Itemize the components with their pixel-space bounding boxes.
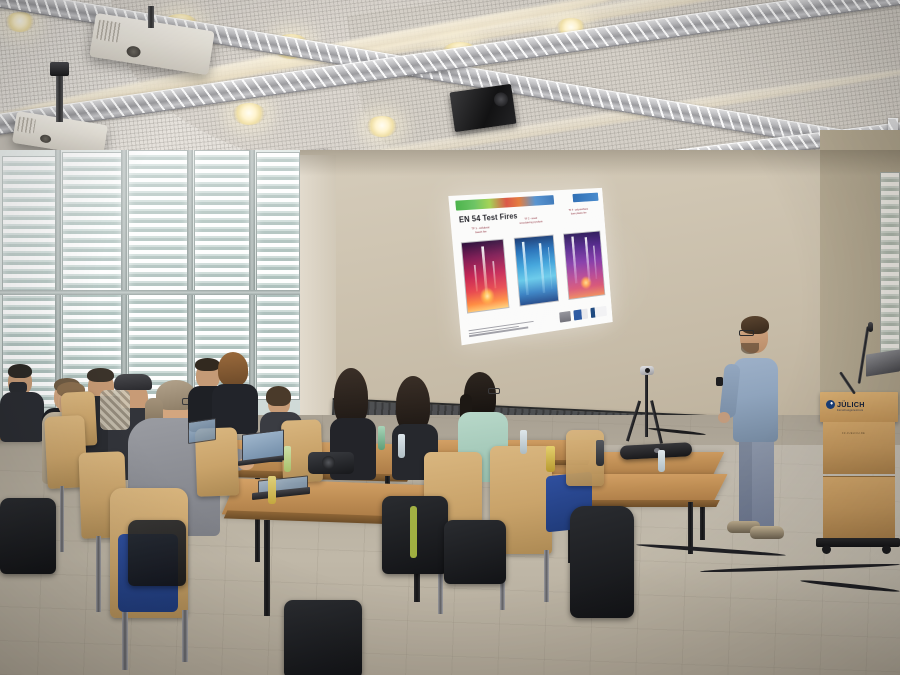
bottle-2[interactable]	[268, 476, 276, 504]
lectern-brand-subtitle: Forschungszentrum	[837, 409, 863, 412]
screen-light-spill	[440, 188, 660, 358]
downlight-7	[5, 12, 35, 32]
juelich-logo-lectern: JÜLICH	[826, 400, 865, 409]
wall-shadow-top	[230, 150, 900, 176]
lectern[interactable]: JÜLICH Forschungszentrum FZ-JUELICH.DE	[820, 392, 898, 562]
bottle-5[interactable]	[520, 430, 527, 454]
backpack-6[interactable]	[128, 520, 186, 586]
lectern-url-text: FZ-JUELICH.DE	[842, 432, 865, 435]
presentation-clicker[interactable]	[716, 377, 723, 386]
lectern-caster-right	[882, 545, 891, 554]
camera-lens-icon	[322, 456, 335, 469]
chair-4-leg-1	[122, 612, 128, 670]
presenter-beard	[741, 343, 759, 354]
chair-2-leg	[60, 486, 64, 552]
presenter-glasses-icon	[739, 330, 754, 336]
lectern-caster-left	[822, 545, 831, 554]
bottle-3[interactable]	[378, 426, 385, 450]
lectern-brand-text: JÜLICH	[837, 401, 865, 408]
presenter-shoe-front	[750, 526, 784, 539]
backpack-5[interactable]	[570, 506, 634, 618]
chair-8-leg-2	[544, 550, 549, 602]
bottle-1[interactable]	[284, 446, 291, 472]
backpack-3[interactable]	[382, 496, 448, 574]
projector-lens-left	[40, 134, 52, 144]
speaker-driver	[493, 92, 509, 108]
downlight-5	[366, 116, 398, 137]
truss-speaker-center	[450, 84, 517, 132]
wall-column	[296, 155, 336, 455]
backpack-3-strap	[410, 506, 417, 558]
webcam-lens-icon	[645, 368, 650, 373]
projector-lens	[126, 45, 142, 58]
chair-4-leg-2	[182, 610, 188, 662]
truss-clamp-left	[50, 62, 69, 76]
laptop-3-screen[interactable]	[188, 418, 216, 444]
projector-mount-rod-right	[148, 6, 154, 28]
projector-mount-rod-left	[56, 70, 63, 122]
bottle-7[interactable]	[596, 440, 604, 466]
lectern-body-upper	[823, 422, 895, 474]
table-front-leg-1	[264, 520, 270, 616]
attendee-scarf	[100, 390, 130, 430]
lecture-hall-photo: EN 54 Test Fires TF 1 - cellulosic beech…	[0, 0, 900, 675]
backpack-2[interactable]	[284, 600, 362, 675]
bottle-6[interactable]	[546, 446, 555, 472]
downlight-4	[232, 103, 266, 125]
juelich-mark-icon	[826, 400, 835, 409]
presenter-hand	[718, 412, 730, 423]
chair-3-leg	[96, 536, 101, 612]
flat-cap-icon	[114, 374, 152, 390]
projector-vent-left	[17, 116, 36, 133]
bottle-4[interactable]	[398, 434, 405, 458]
attendee-glasses-icon-2	[488, 388, 500, 394]
bottle-8[interactable]	[658, 450, 665, 472]
projector-vent	[96, 19, 121, 42]
window-right-strip	[880, 172, 900, 364]
presenter-leg-front	[752, 436, 774, 532]
lectern-body-lower	[823, 476, 895, 539]
backpack-1[interactable]	[0, 498, 56, 574]
backpack-4[interactable]	[444, 520, 506, 584]
microphone-capsule-icon	[868, 322, 873, 332]
